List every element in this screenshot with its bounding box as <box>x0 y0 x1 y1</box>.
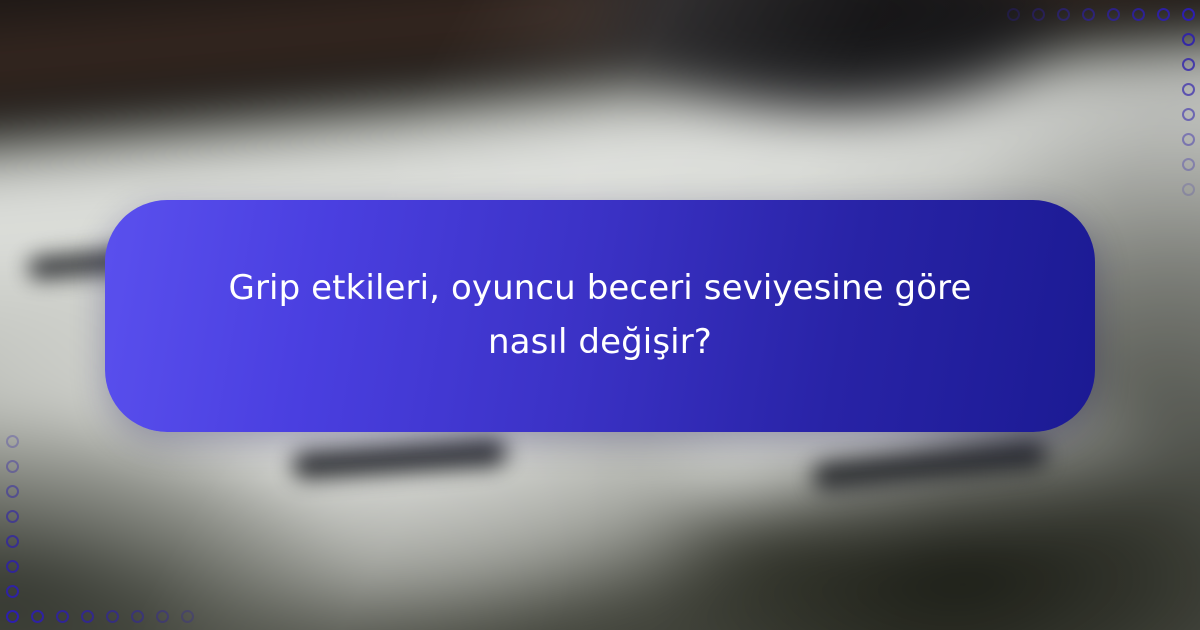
decorative-dot <box>81 610 94 623</box>
decorative-dot <box>6 460 19 473</box>
decorative-dot <box>1182 83 1195 96</box>
decorative-dot <box>1057 8 1070 21</box>
decorative-dot <box>131 610 144 623</box>
decorative-dot <box>1182 133 1195 146</box>
question-text: Grip etkileri, oyuncu beceri seviyesine … <box>220 262 980 369</box>
decorative-dot <box>181 610 194 623</box>
decorative-dot <box>1182 183 1195 196</box>
decorative-dot <box>1182 58 1195 71</box>
decorative-dot <box>1082 8 1095 21</box>
decorative-dot <box>6 560 19 573</box>
decorative-dot <box>156 610 169 623</box>
social-card-canvas: Grip etkileri, oyuncu beceri seviyesine … <box>0 0 1200 630</box>
decorative-dot <box>106 610 119 623</box>
question-card: Grip etkileri, oyuncu beceri seviyesine … <box>105 200 1095 432</box>
decorative-dot <box>56 610 69 623</box>
decorative-dot <box>6 610 19 623</box>
decorative-dot <box>31 610 44 623</box>
decorative-dot <box>1182 108 1195 121</box>
decorative-dot <box>6 510 19 523</box>
decorative-dot <box>1032 8 1045 21</box>
decorative-dot <box>6 435 19 448</box>
decorative-dot <box>1182 8 1195 21</box>
decorative-dot <box>6 585 19 598</box>
decorative-dot <box>1182 158 1195 171</box>
decorative-dot <box>6 535 19 548</box>
decorative-dot <box>1132 8 1145 21</box>
decorative-dot <box>1107 8 1120 21</box>
decorative-dot <box>1007 8 1020 21</box>
decorative-dot <box>1182 33 1195 46</box>
decorative-dot <box>1157 8 1170 21</box>
decorative-dot <box>6 485 19 498</box>
